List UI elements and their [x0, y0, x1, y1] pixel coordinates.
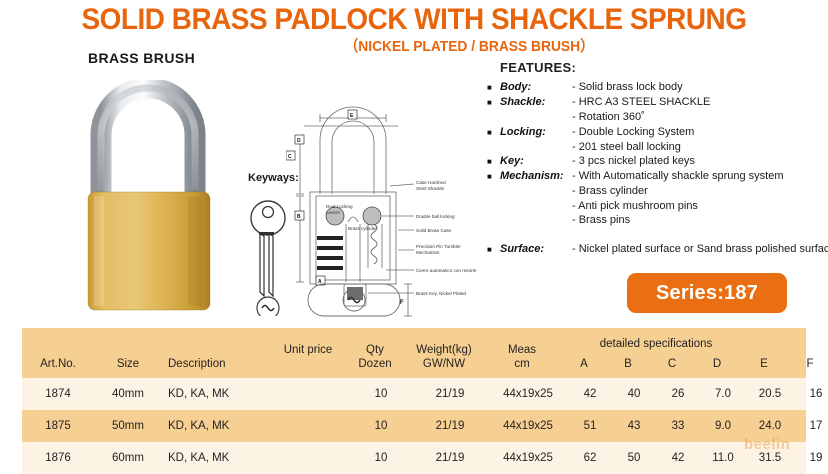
cell-description: KD, KA, MK — [162, 452, 278, 464]
cell-art-no: 1874 — [22, 388, 94, 400]
feature-value: - Anti pick mushroom pins — [572, 199, 698, 214]
cell-qty: 10 — [350, 388, 412, 400]
cell-e: 24.0 — [746, 420, 794, 432]
cell-meas: 44x19x25 — [488, 452, 568, 464]
svg-text:Steel Shackle: Steel Shackle — [416, 186, 445, 191]
th-qty: Qty Dozen — [344, 328, 406, 378]
cell-weight: 21/19 — [412, 452, 488, 464]
feature-row: ■ Shackle: - HRC A3 STEEL SHACKLE — [487, 95, 827, 110]
feature-row: ■ Mechanism: - With Automatically shackl… — [487, 169, 827, 184]
svg-text:Precision Pin Tumbler: Precision Pin Tumbler — [416, 244, 461, 249]
cell-e: 20.5 — [746, 388, 794, 400]
th-a: A — [562, 328, 606, 378]
feature-key: Locking: — [500, 125, 572, 140]
th-unit-price-label: Unit price — [284, 343, 333, 357]
table-row: 1874 40mm KD, KA, MK 10 21/19 44x19x25 4… — [22, 378, 806, 410]
svg-text:F: F — [400, 300, 404, 306]
cell-meas: 44x19x25 — [488, 420, 568, 432]
bullet-icon: ■ — [487, 154, 500, 169]
cell-f: 17 — [794, 420, 828, 432]
th-meas-top: Meas — [508, 343, 536, 357]
feature-row: - Brass cylinder — [487, 184, 827, 199]
feature-value: - 3 pcs nickel plated keys — [572, 154, 695, 169]
bullet-icon: ■ — [487, 80, 500, 95]
svg-text:Dual Locking: Dual Locking — [326, 204, 353, 209]
cell-c: 26 — [656, 388, 700, 400]
table-header-row: detailed specifications Art.No. Size Des… — [22, 328, 806, 378]
bullet-icon: ■ — [487, 95, 500, 110]
th-qty-bottom: Dozen — [358, 357, 391, 371]
feature-value: - HRC A3 STEEL SHACKLE — [572, 95, 710, 110]
feature-value: - Brass cylinder — [572, 184, 648, 199]
feature-row: - Brass pins — [487, 213, 827, 228]
cell-b: 50 — [612, 452, 656, 464]
cell-qty: 10 — [350, 452, 412, 464]
page-title: SOLID BRASS PADLOCK WITH SHACKLE SPRUNG — [29, 4, 799, 36]
feature-value: - With Automatically shackle sprung syst… — [572, 169, 784, 184]
cell-b: 40 — [612, 388, 656, 400]
feature-row: - Rotation 360˚ — [487, 110, 827, 125]
feature-value: - Solid brass lock body — [572, 80, 683, 95]
bullet-icon: ■ — [487, 242, 500, 257]
th-weight-bottom: GW/NW — [423, 357, 465, 371]
th-b: B — [606, 328, 650, 378]
th-d: D — [694, 328, 740, 378]
th-meas-bottom: cm — [514, 357, 529, 371]
th-qty-top: Qty — [366, 343, 384, 357]
bullet-icon: ■ — [487, 125, 500, 140]
bullet-icon: ■ — [487, 169, 500, 184]
svg-text:Mechanism: Mechanism — [416, 250, 440, 255]
feature-value: - Rotation 360˚ — [572, 110, 645, 125]
th-size: Size — [94, 328, 162, 378]
feature-key: Key: — [500, 154, 572, 169]
svg-text:Double ball locking: Double ball locking — [416, 214, 455, 219]
feature-row: ■ Key: - 3 pcs nickel plated keys — [487, 154, 827, 169]
cell-a: 42 — [568, 388, 612, 400]
cell-art-no: 1875 — [22, 420, 94, 432]
feature-value: - Nickel plated surface or Sand brass po… — [572, 242, 828, 257]
cell-f: 19 — [794, 452, 828, 464]
feature-row: - Anti pick mushroom pins — [487, 199, 827, 214]
cell-art-no: 1876 — [22, 452, 94, 464]
cell-a: 51 — [568, 420, 612, 432]
svg-text:Case Hardned: Case Hardned — [416, 180, 446, 185]
cell-weight: 21/19 — [412, 420, 488, 432]
cell-e: 31.5 — [746, 452, 794, 464]
feature-value: - 201 steel ball locking — [572, 140, 681, 155]
cell-d: 7.0 — [700, 388, 746, 400]
feature-key: Mechanism: — [500, 169, 572, 184]
svg-text:Brass cylinder: Brass cylinder — [348, 226, 377, 231]
cell-description: KD, KA, MK — [162, 388, 278, 400]
svg-text:Solid Brass Case: Solid Brass Case — [416, 228, 452, 233]
feature-value: - Double Locking System — [572, 125, 694, 140]
page-title-block: SOLID BRASS PADLOCK WITH SHACKLE SPRUNG … — [0, 4, 828, 55]
th-unit-price: Unit price — [272, 328, 344, 378]
table-row: 1876 60mm KD, KA, MK 10 21/19 44x19x25 6… — [22, 442, 806, 474]
svg-text:Cierre automatico con resorte: Cierre automatico con resorte — [416, 268, 477, 273]
feature-key: Shackle: — [500, 95, 572, 110]
lock-top-view-diagram: F — [304, 278, 424, 322]
svg-text:C: C — [288, 154, 292, 160]
cell-qty: 10 — [350, 420, 412, 432]
cell-size: 50mm — [94, 420, 162, 432]
series-badge-label: Series:187 — [656, 282, 758, 305]
product-image-caption: BRASS BRUSH — [88, 50, 195, 66]
cell-d: 11.0 — [700, 452, 746, 464]
feature-key: Body: — [500, 80, 572, 95]
th-f: F — [788, 328, 828, 378]
features-heading: FEATURES: — [500, 60, 827, 75]
feature-row: ■ Body: - Solid brass lock body — [487, 80, 827, 95]
cell-meas: 44x19x25 — [488, 388, 568, 400]
svg-text:Levers: Levers — [326, 210, 340, 215]
padlock-photo — [68, 80, 228, 315]
cell-c: 33 — [656, 420, 700, 432]
cell-a: 62 — [568, 452, 612, 464]
th-weight-top: Weight(kg) — [416, 343, 471, 357]
cell-f: 16 — [794, 388, 828, 400]
th-c: C — [650, 328, 694, 378]
th-weight: Weight(kg) GW/NW — [406, 328, 482, 378]
feature-key: Surface: — [500, 242, 572, 257]
product-spec-sheet: SOLID BRASS PADLOCK WITH SHACKLE SPRUNG … — [0, 0, 828, 470]
feature-row: ■ Locking: - Double Locking System — [487, 125, 827, 140]
cell-description: KD, KA, MK — [162, 420, 278, 432]
svg-text:B: B — [297, 214, 301, 220]
table-row: 1875 50mm KD, KA, MK 10 21/19 44x19x25 5… — [22, 410, 806, 442]
feature-row: - 201 steel ball locking — [487, 140, 827, 155]
watermark: beelin — [744, 436, 790, 453]
series-badge: Series:187 — [627, 273, 787, 313]
th-e: E — [740, 328, 788, 378]
feature-row: ■ Surface: - Nickel plated surface or Sa… — [487, 242, 827, 257]
th-meas: Meas cm — [482, 328, 562, 378]
cell-weight: 21/19 — [412, 388, 488, 400]
cell-size: 40mm — [94, 388, 162, 400]
th-description: Description — [162, 328, 272, 378]
svg-text:D: D — [297, 138, 301, 144]
cell-d: 9.0 — [700, 420, 746, 432]
th-art-no: Art.No. — [22, 328, 94, 378]
specifications-table: detailed specifications Art.No. Size Des… — [22, 328, 806, 474]
cell-c: 42 — [656, 452, 700, 464]
feature-value: - Brass pins — [572, 213, 630, 228]
features-section: FEATURES: ■ Body: - Solid brass lock bod… — [487, 60, 827, 257]
cell-b: 43 — [612, 420, 656, 432]
cell-size: 60mm — [94, 452, 162, 464]
